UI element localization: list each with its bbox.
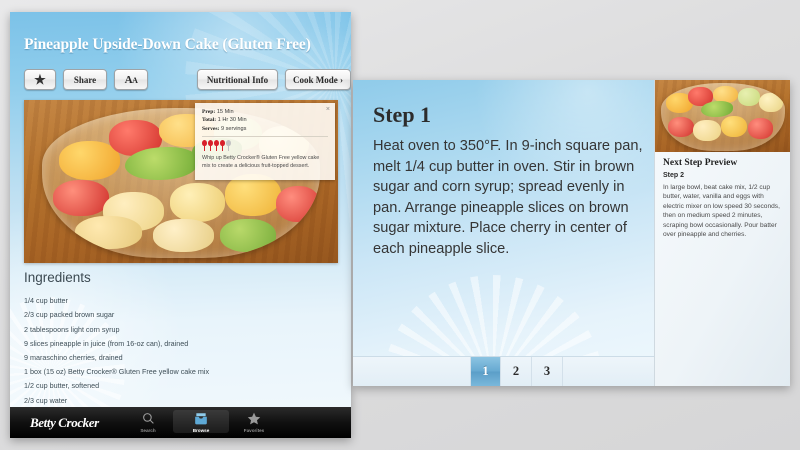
fruit-piece: [668, 117, 694, 137]
fruit-piece: [748, 118, 773, 138]
cook-mode-label: Cook Mode ›: [293, 75, 343, 85]
favorite-button[interactable]: ★: [24, 69, 56, 90]
list-item: 2 tablespoons light corn syrup: [24, 319, 342, 333]
fruit-piece: [75, 216, 142, 249]
cook-mode-panel: Step 1 Heat oven to 350°F. In 9-inch squ…: [353, 80, 790, 386]
fruit-piece: [759, 93, 783, 112]
font-size-icon: AA: [125, 74, 138, 86]
spoon-icon: [220, 140, 225, 151]
brand-logo: Betty Crocker: [30, 415, 99, 431]
spoon-icon: [208, 140, 213, 151]
fruit-piece: [276, 186, 320, 222]
list-item: 1/4 cup butter: [24, 291, 342, 305]
page-button-3[interactable]: 3: [532, 357, 563, 386]
page-title: Pineapple Upside-Down Cake (Gluten Free): [24, 36, 344, 54]
star-icon: [247, 410, 261, 427]
spoon-icon: [202, 140, 207, 151]
next-step-preview-panel[interactable]: Next Step Preview Step 2 In large bowl, …: [654, 80, 790, 386]
spoon-icon: [214, 140, 219, 151]
list-item: 2/3 cup water: [24, 390, 342, 404]
step-pagination: 1 2 3: [353, 356, 654, 386]
tab-browse-label: Browse: [193, 428, 210, 433]
list-item: 2/3 cup packed brown sugar: [24, 305, 342, 319]
fruit-piece: [738, 88, 760, 106]
recipe-description: Whip up Betty Crocker® Gluten Free yello…: [202, 154, 328, 170]
nutritional-info-button[interactable]: Nutritional Info: [197, 69, 278, 90]
total-time-value: 1 Hr 30 Min: [216, 117, 246, 123]
fruit-piece: [220, 219, 276, 252]
bottom-tab-bar: Betty Crocker Search Browse: [10, 407, 351, 438]
list-item: 9 maraschino cherries, drained: [24, 348, 342, 362]
fruit-bowl: [661, 83, 785, 151]
page-button-2[interactable]: 2: [501, 357, 532, 386]
servings-value: 9 servings: [219, 126, 246, 132]
browse-icon: [194, 410, 208, 427]
list-item: 1 box (15 oz) Betty Crocker® Gluten Free…: [24, 362, 342, 376]
share-button-label: Share: [74, 75, 96, 85]
close-icon[interactable]: ×: [326, 106, 330, 113]
prep-time-row: Prep: 15 Min: [202, 108, 328, 116]
font-size-button[interactable]: AA: [114, 69, 148, 90]
fruit-piece: [693, 120, 720, 142]
star-icon: ★: [34, 73, 46, 86]
next-step-label: Step 2: [663, 172, 684, 179]
ingredients-list: 1/4 cup butter 2/3 cup packed brown suga…: [24, 291, 342, 419]
list-item: 1/2 cup butter, softened: [24, 376, 342, 390]
prep-time-value: 15 Min: [215, 109, 233, 115]
share-button[interactable]: Share: [63, 69, 107, 90]
next-step-heading: Next Step Preview: [663, 158, 737, 168]
list-item: 9 slices pineapple in juice (from 16-oz …: [24, 334, 342, 348]
total-time-row: Total: 1 Hr 30 Min: [202, 116, 328, 124]
step-instructions: Heat oven to 350°F. In 9-inch square pan…: [373, 136, 645, 259]
tab-search[interactable]: Search: [120, 410, 176, 433]
total-time-label: Total:: [202, 117, 216, 123]
spoon-icon-empty: [226, 140, 231, 151]
fruit-piece: [53, 180, 109, 216]
step-title: Step 1: [373, 102, 431, 128]
difficulty-rating: [202, 140, 328, 151]
recipe-detail-panel: Pineapple Upside-Down Cake (Gluten Free)…: [10, 12, 351, 438]
servings-label: Serves:: [202, 126, 219, 132]
tab-favorites-label: Favorites: [244, 428, 264, 433]
recipe-info-overlay: × Prep: 15 Min Total: 1 Hr 30 Min Serves…: [195, 103, 335, 180]
tab-favorites[interactable]: Favorites: [226, 410, 282, 433]
fruit-piece: [225, 174, 281, 216]
fruit-piece: [170, 183, 226, 222]
recipe-toolbar: ★ Share AA Nutritional Info Cook Mode ›: [24, 69, 339, 91]
mint-leaf: [125, 147, 197, 180]
fruit-piece: [721, 116, 747, 138]
mint-leaf: [701, 101, 733, 117]
fruit-piece: [153, 219, 214, 252]
servings-row: Serves: 9 servings: [202, 125, 328, 133]
divider: [202, 136, 328, 137]
tab-browse[interactable]: Browse: [173, 410, 229, 433]
nutritional-info-label: Nutritional Info: [207, 75, 268, 85]
next-step-photo: [655, 80, 790, 152]
tab-search-label: Search: [140, 428, 155, 433]
next-step-body: In large bowl, beat cake mix, 1/2 cup bu…: [663, 183, 785, 239]
prep-time-label: Prep:: [202, 109, 215, 115]
search-icon: [142, 410, 155, 427]
cook-mode-button[interactable]: Cook Mode ›: [285, 69, 351, 90]
page-button-1[interactable]: 1: [470, 357, 501, 386]
ingredients-heading: Ingredients: [24, 270, 91, 285]
